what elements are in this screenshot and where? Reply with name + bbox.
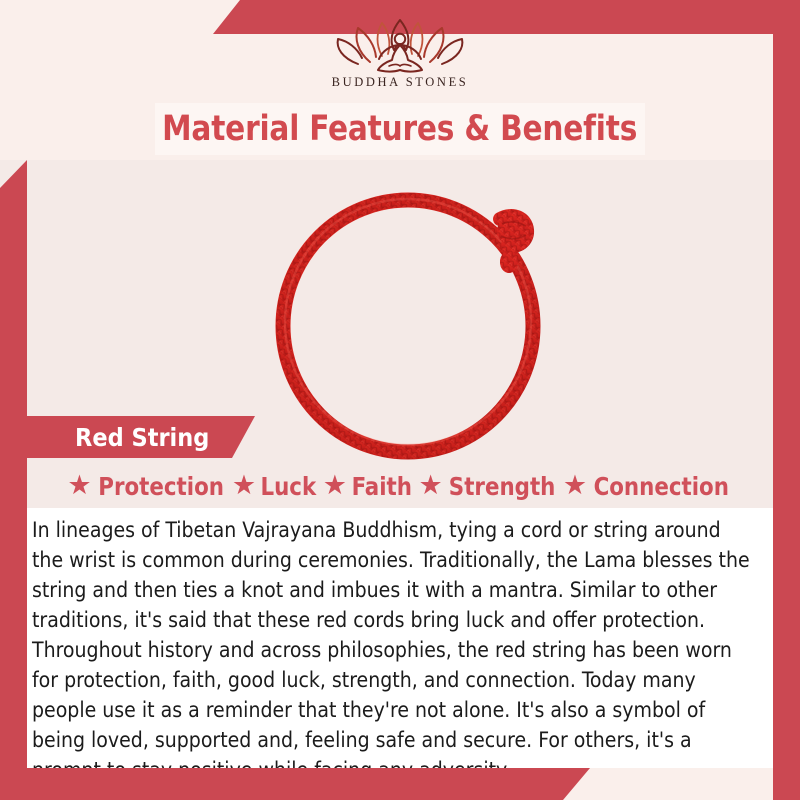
brand-header: BUDDHA STONES [0, 0, 800, 100]
feature-label: Luck [261, 472, 317, 501]
feature-label: Strength [449, 472, 556, 501]
description-panel: In lineages of Tibetan Vajrayana Buddhis… [27, 508, 773, 768]
page-title: Material Features & Benefits [163, 109, 638, 149]
frame-right-strip [773, 0, 800, 800]
feature-item: ★ Faith [323, 472, 414, 501]
feature-label: Connection [594, 472, 729, 501]
feature-item: ★ Connection [563, 472, 733, 501]
brand-wordmark: BUDDHA STONES [332, 75, 469, 90]
title-banner: Material Features & Benefits [155, 103, 645, 155]
feature-label: Protection [98, 472, 224, 501]
feature-item: ★ Strength [419, 472, 558, 501]
star-icon: ★ [563, 472, 587, 499]
feature-item: ★ Protection [67, 472, 227, 501]
feature-item: ★ Luck [232, 472, 318, 501]
star-icon: ★ [323, 472, 347, 499]
red-string-bracelet-image [268, 174, 558, 474]
feature-label: Faith [352, 472, 412, 501]
star-icon: ★ [419, 472, 443, 499]
star-icon: ★ [67, 472, 91, 499]
infographic-page: BUDDHA STONES Material Features & Benefi… [0, 0, 800, 800]
star-icon: ★ [232, 472, 256, 499]
description-text: In lineages of Tibetan Vajrayana Buddhis… [32, 516, 750, 786]
frame-left-strip [0, 160, 27, 800]
material-label-banner: Red String [27, 416, 255, 458]
lotus-meditation-icon [334, 12, 466, 74]
features-list: ★ Protection ★ Luck ★ Faith ★ Strength ★… [27, 464, 773, 508]
material-label-text: Red String [27, 423, 209, 452]
